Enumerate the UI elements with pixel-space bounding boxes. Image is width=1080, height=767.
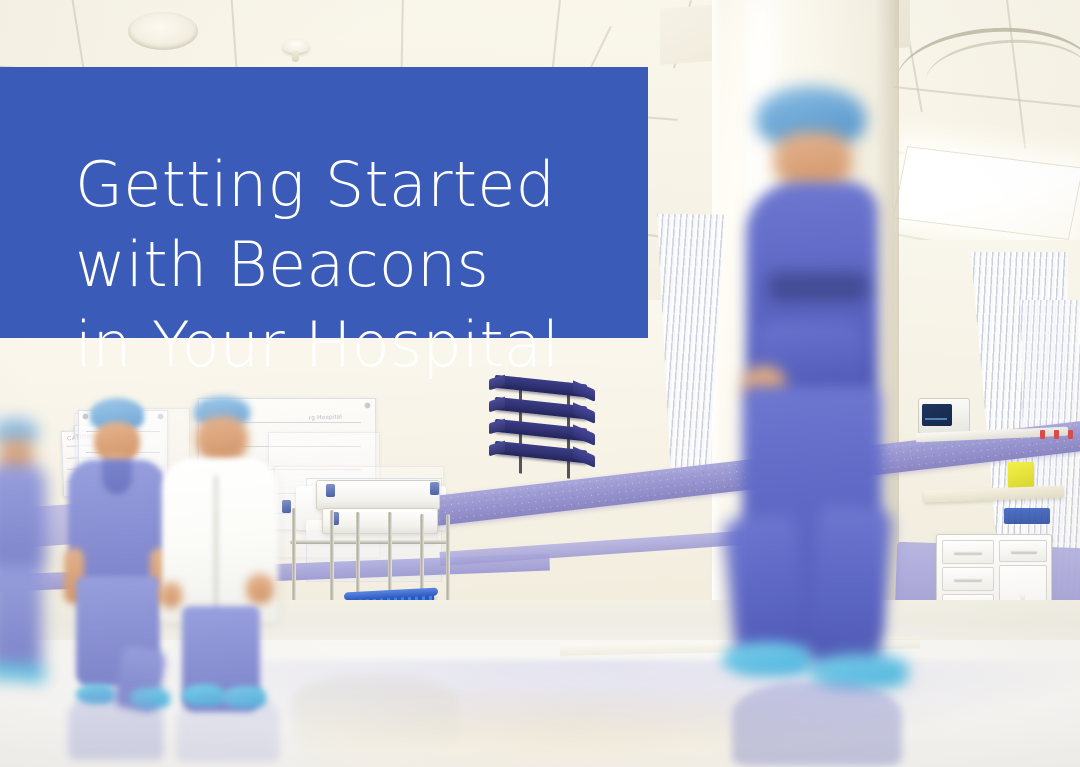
supply-tray — [1004, 508, 1050, 524]
scrub-shoulder-shadow — [768, 272, 868, 302]
trolley-rail — [290, 540, 450, 544]
drawer-handle[interactable] — [1011, 550, 1037, 553]
letter-tray — [495, 397, 587, 420]
face — [774, 132, 852, 188]
recessed-light-icon — [128, 12, 198, 50]
staff-doctor-labcoat — [160, 396, 280, 698]
floor-reflection — [68, 690, 164, 760]
staff-nurse-center — [62, 398, 172, 698]
title-banner: Getting Started with Beacons in Your Hos… — [0, 67, 648, 338]
hand — [160, 582, 182, 608]
leg-front — [805, 503, 893, 671]
sharps-container — [1008, 462, 1034, 488]
hand — [246, 574, 274, 604]
floor-reflection — [732, 682, 902, 766]
letter-tray-rack — [495, 373, 595, 482]
shoe-cover — [722, 642, 810, 676]
letter-tray — [495, 419, 587, 442]
staff-foreground-right — [716, 86, 906, 698]
scrub-top — [0, 464, 46, 572]
shoe-cover — [12, 664, 46, 682]
hero-banner-image: CATIONS rg Hospital — [0, 0, 1080, 767]
wall-outlet-strip — [1040, 430, 1080, 440]
info-board-text: rg Hospital — [309, 414, 342, 421]
scrub-vneck — [102, 460, 132, 494]
banner-title: Getting Started with Beacons in Your Hos… — [75, 145, 635, 385]
patient-monitor-screen — [922, 404, 952, 426]
trolley-clip — [430, 482, 439, 495]
lab-coat-placket — [214, 476, 218, 616]
drawer-handle[interactable] — [954, 551, 982, 554]
trolley-clip — [326, 484, 335, 497]
smoke-detector-icon — [283, 40, 309, 53]
floor-reflection — [290, 676, 460, 746]
floor-reflection — [176, 692, 280, 762]
letter-tray — [495, 441, 587, 464]
scrub-trousers — [0, 566, 42, 672]
counter-clip — [282, 500, 291, 513]
face — [196, 416, 248, 462]
staff-left-background — [0, 418, 50, 684]
drawer-handle[interactable] — [954, 578, 982, 581]
